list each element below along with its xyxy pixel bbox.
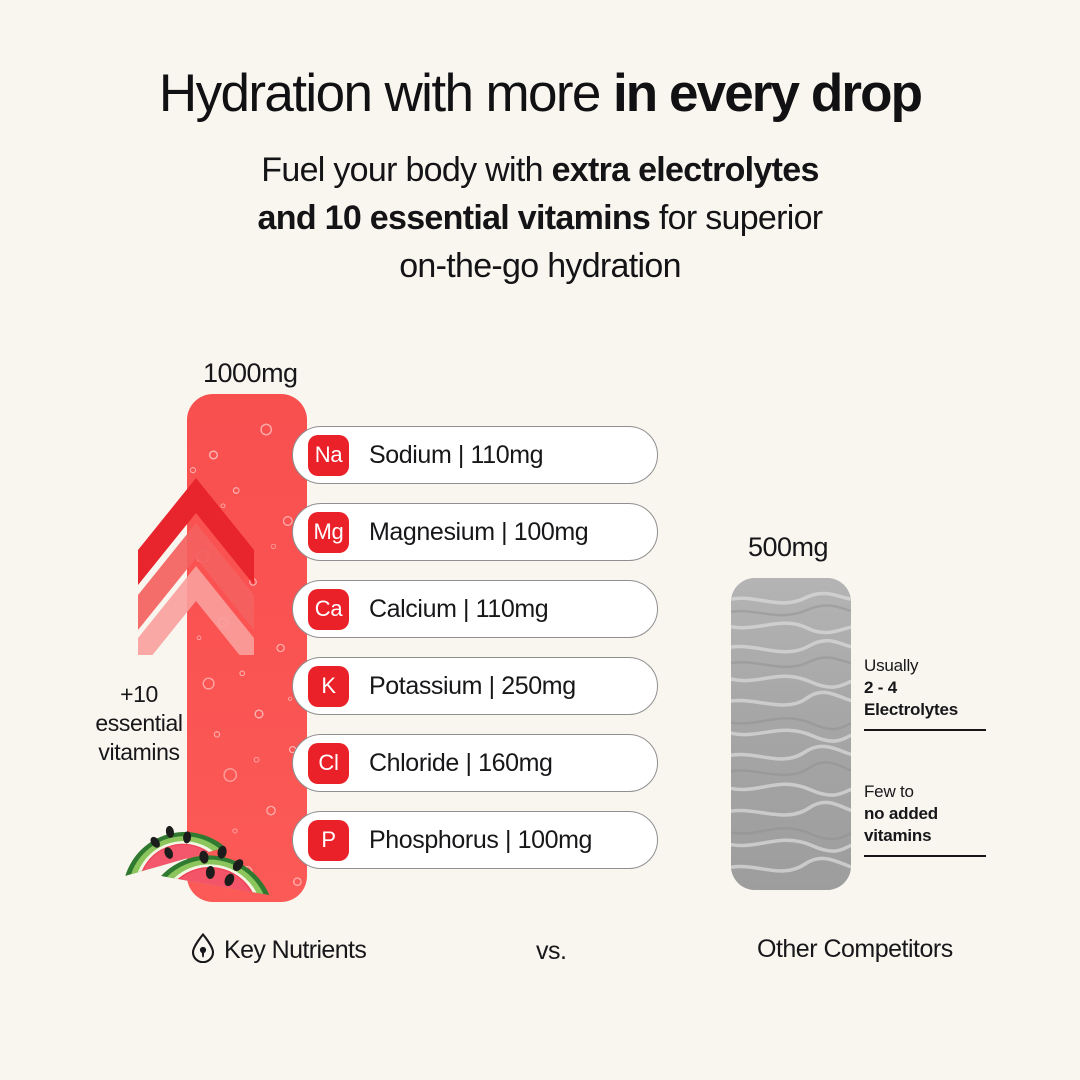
electrolyte-label: Sodium | 110mg [369,441,543,470]
vs-label: vs. [536,937,566,966]
brand-footer: Key Nutrients [190,933,366,968]
list-item[interactable]: Na Sodium | 110mg [292,426,658,484]
note-bold-1: 2 - 4 [864,677,989,699]
subtitle-line-3: on-the-go hydration [0,242,1080,290]
element-symbol-badge: P [308,820,349,861]
headline-regular: Hydration with more [159,64,613,123]
note-bold-2: Electrolytes [864,699,989,721]
subtitle-line2-bold: and 10 essential vitamins [258,199,651,237]
headline-bold: in every drop [613,64,921,123]
divider [864,855,986,857]
subtitle-line2-regular: for superior [650,199,822,237]
note-bold-2: vitamins [864,825,989,847]
page-subtitle: Fuel your body with extra electrolytes a… [0,146,1080,290]
list-item[interactable]: P Phosphorus | 100mg [292,811,658,869]
list-item[interactable]: Ca Calcium | 110mg [292,580,658,638]
electrolyte-label: Magnesium | 100mg [369,518,588,547]
brand-name: Key Nutrients [224,936,366,965]
note-bold-1: no added [864,803,989,825]
element-symbol-badge: K [308,666,349,707]
brand-amount-label: 1000mg [203,358,298,389]
competitors-label: Other Competitors [757,935,953,964]
element-symbol-badge: Na [308,435,349,476]
divider [864,729,986,731]
electrolyte-label: Potassium | 250mg [369,672,576,701]
triple-chevron-up-icon [126,455,301,655]
subtitle-line1-bold: extra electrolytes [552,151,819,189]
electrolyte-label: Chloride | 160mg [369,749,553,778]
electrolyte-label: Calcium | 110mg [369,595,548,624]
list-item[interactable]: Mg Magnesium | 100mg [292,503,658,561]
water-drop-keyhole-icon [190,933,216,968]
element-symbol-badge: Ca [308,589,349,630]
note-regular: Few to [864,781,989,803]
watermelon-slice-icon [112,800,287,905]
element-symbol-badge: Cl [308,743,349,784]
competitor-amount-label: 500mg [748,532,828,563]
subtitle-line-1: Fuel your body with extra electrolytes [0,146,1080,194]
note-regular: Usually [864,655,989,677]
vitamins-note: +10 essential vitamins [78,680,200,767]
competitor-electrolytes-note: Usually 2 - 4 Electrolytes [864,655,989,731]
page-title: Hydration with more in every drop [0,63,1080,125]
electrolyte-label: Phosphorus | 100mg [369,826,592,855]
infographic-canvas: Hydration with more in every drop Fuel y… [0,0,1080,1080]
subtitle-line-2: and 10 essential vitamins for superior [0,194,1080,242]
list-item[interactable]: Cl Chloride | 160mg [292,734,658,792]
competitor-vitamins-note: Few to no added vitamins [864,781,989,857]
competitor-bar [731,578,851,890]
list-item[interactable]: K Potassium | 250mg [292,657,658,715]
element-symbol-badge: Mg [308,512,349,553]
subtitle-line1-regular: Fuel your body with [261,151,551,189]
